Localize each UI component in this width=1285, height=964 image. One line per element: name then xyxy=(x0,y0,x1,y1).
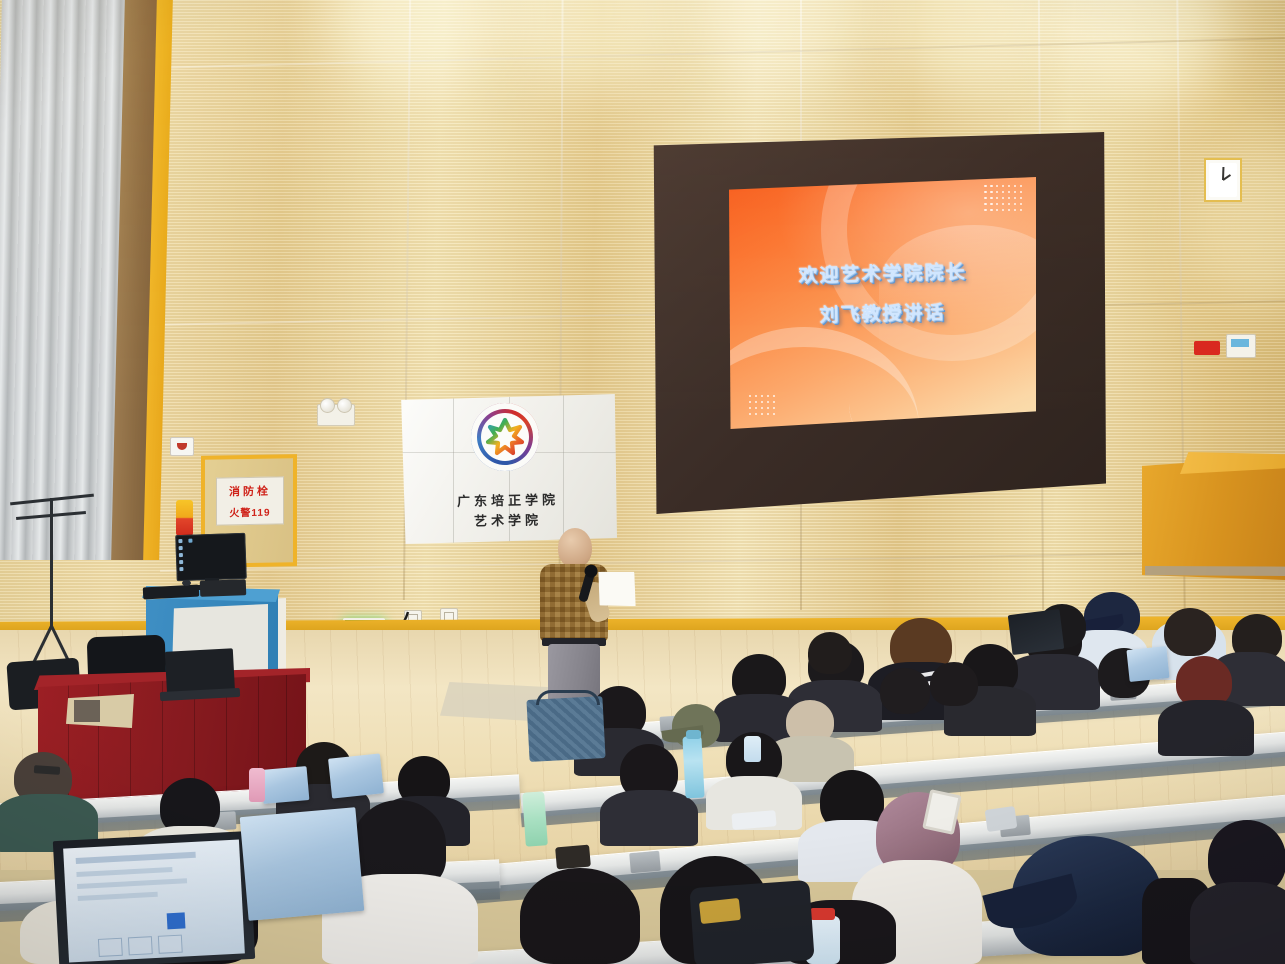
audience-person xyxy=(600,790,698,846)
phone xyxy=(985,806,1018,832)
laptop-screen[interactable] xyxy=(63,839,245,962)
desktop-monitor[interactable] xyxy=(175,533,247,581)
audience-head xyxy=(930,662,978,706)
eyeglasses xyxy=(34,765,60,775)
audience-person xyxy=(1158,700,1254,756)
department-banner: 广东培正学院 艺术学院 xyxy=(399,394,617,544)
fire-sign-main: 消防栓 xyxy=(217,482,283,499)
slide-dot-grid xyxy=(984,185,1022,211)
bottle-cap xyxy=(686,730,701,739)
banner-line-1: 广东培正学院 xyxy=(399,488,617,511)
fire-alarm-bell-icon xyxy=(170,437,194,456)
fire-sign-sub: 火警119 xyxy=(217,503,283,519)
water-bottle xyxy=(682,736,704,799)
paper-sheet xyxy=(596,568,638,610)
wallet xyxy=(555,845,591,870)
stage-curtain xyxy=(0,0,130,560)
slide-dot-grid xyxy=(749,395,775,415)
wall-notice-sign xyxy=(1226,334,1256,358)
clock-face xyxy=(1209,163,1237,197)
tote-bag xyxy=(526,696,605,762)
audience-tablet[interactable] xyxy=(261,766,310,804)
audience-head xyxy=(520,868,640,964)
book-object xyxy=(74,700,100,722)
audience-laptop[interactable] xyxy=(240,807,365,921)
water-bottle xyxy=(744,736,761,762)
presenter xyxy=(540,528,622,708)
desk-bracket xyxy=(629,851,661,874)
water-bottle xyxy=(522,791,548,846)
clock-hour-hand xyxy=(1222,174,1231,181)
tote-bag-handle xyxy=(536,690,600,705)
audience-tablet[interactable] xyxy=(1126,646,1169,682)
water-bottle xyxy=(249,768,265,802)
computer-mouse[interactable] xyxy=(182,580,191,586)
red-warning-sign xyxy=(1194,341,1220,355)
audience-laptop[interactable] xyxy=(328,753,384,798)
music-stand xyxy=(50,498,53,628)
av-device xyxy=(200,579,247,597)
audience-head xyxy=(1164,608,1216,656)
audience-tablet[interactable] xyxy=(1008,609,1064,655)
emblem-inner-disc xyxy=(481,413,529,461)
alarm-strobe-light xyxy=(176,500,193,536)
lectern-base xyxy=(1145,566,1285,576)
audience-person xyxy=(1190,882,1285,964)
bag-tag xyxy=(699,898,741,924)
audience-head xyxy=(880,668,930,714)
lecture-hall-photo: 欢迎艺术学院院长 刘飞教授讲话 广东培正学院 艺术学院 xyxy=(0,0,1285,964)
audience-head xyxy=(808,632,852,674)
presenter-head xyxy=(558,528,592,568)
projection-screen[interactable]: 欢迎艺术学院院长 刘飞教授讲话 xyxy=(651,132,1106,514)
screen-surface: 欢迎艺术学院院长 刘飞教授讲话 xyxy=(729,177,1036,429)
emblem-star-icon xyxy=(481,413,529,461)
bottle-cap xyxy=(810,908,835,920)
emergency-light-fixture xyxy=(317,404,355,426)
wooden-lectern xyxy=(1142,456,1285,580)
fire-hydrant-sign: 消防栓 火警119 xyxy=(216,476,284,525)
